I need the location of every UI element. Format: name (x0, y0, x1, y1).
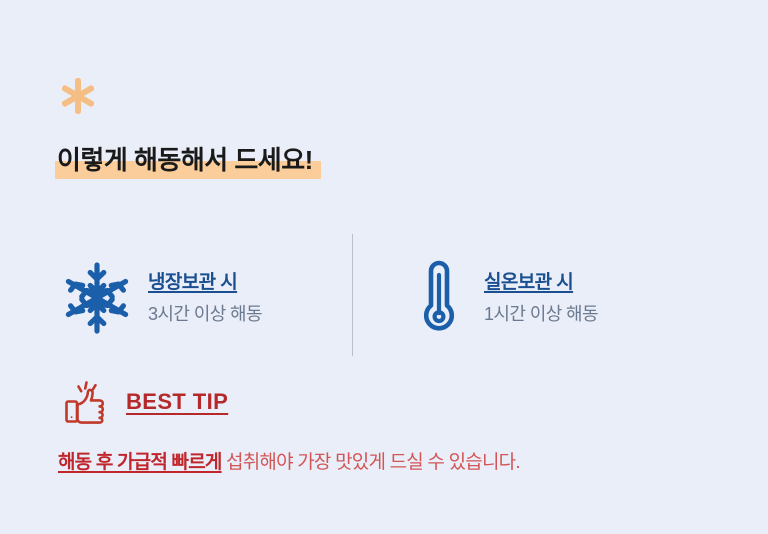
storage-item-room-temperature: 실온보관 시 1시간 이상 해동 (410, 236, 598, 360)
storage-text-room-temperature: 실온보관 시 1시간 이상 해동 (484, 271, 598, 325)
storage-guidance-row: 냉장보관 시 3시간 이상 해동 실온보관 시 (0, 236, 768, 360)
storage-subtitle: 1시간 이상 해동 (484, 303, 598, 326)
storage-subtitle: 3시간 이상 해동 (148, 303, 262, 326)
best-tip-emphasis-text: 해동 후 가급적 빠르게 (58, 452, 222, 473)
headline-text: 이렇게 해동해서 드세요! (57, 145, 313, 175)
best-tip-header: BEST TIP (60, 376, 228, 428)
best-tip-rest-text: 섭취해야 가장 맛있게 드실 수 있습니다. (222, 452, 520, 473)
storage-title: 냉장보관 시 (148, 271, 262, 295)
best-tip-description: 해동 후 가급적 빠르게 섭취해야 가장 맛있게 드실 수 있습니다. (58, 450, 520, 476)
thawing-instruction-panel: 이렇게 해동해서 드세요! (0, 0, 768, 534)
asterisk-sparkle-icon (58, 76, 98, 116)
column-divider (352, 234, 353, 356)
snowflake-icon (60, 255, 134, 341)
storage-title: 실온보관 시 (484, 271, 598, 295)
headline-block: 이렇게 해동해서 드세요! (55, 140, 315, 180)
thumbs-up-icon (60, 376, 114, 428)
thermometer-icon (410, 255, 468, 341)
storage-text-refrigerated: 냉장보관 시 3시간 이상 해동 (148, 271, 262, 325)
page-title: 이렇게 해동해서 드세요! (55, 140, 315, 180)
storage-item-refrigerated: 냉장보관 시 3시간 이상 해동 (60, 236, 262, 360)
best-tip-label: BEST TIP (126, 389, 228, 415)
